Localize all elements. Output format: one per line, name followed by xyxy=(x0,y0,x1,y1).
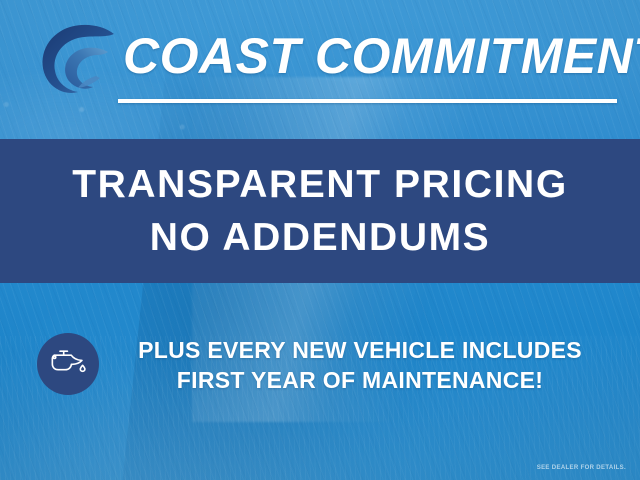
page-title: COAST COMMITMENT xyxy=(123,26,623,86)
banner-header: COAST COMMITMENT xyxy=(0,0,640,139)
transparent-pricing-text: TRANSPARENT PRICING xyxy=(72,158,568,211)
no-addendums-text: NO ADDENDUMS xyxy=(150,211,491,264)
coast-commitment-promo-banner: COAST COMMITMENT TRANSPARENT PRICING NO … xyxy=(0,0,640,480)
maintenance-promo: PLUS EVERY NEW VEHICLE INCLUDES FIRST YE… xyxy=(0,322,640,408)
promo-line-1: PLUS EVERY NEW VEHICLE INCLUDES xyxy=(138,335,582,365)
maintenance-promo-text: PLUS EVERY NEW VEHICLE INCLUDES FIRST YE… xyxy=(110,322,610,408)
wave-swoosh-logo-icon xyxy=(30,22,122,100)
title-divider xyxy=(118,99,617,103)
pricing-promise-band: TRANSPARENT PRICING NO ADDENDUMS xyxy=(0,139,640,283)
promo-line-2: FIRST YEAR OF MAINTENANCE! xyxy=(177,365,543,395)
oil-can-badge xyxy=(37,333,99,395)
oil-can-icon xyxy=(47,347,89,381)
disclaimer-text: SEE DEALER FOR DETAILS. xyxy=(537,465,626,471)
